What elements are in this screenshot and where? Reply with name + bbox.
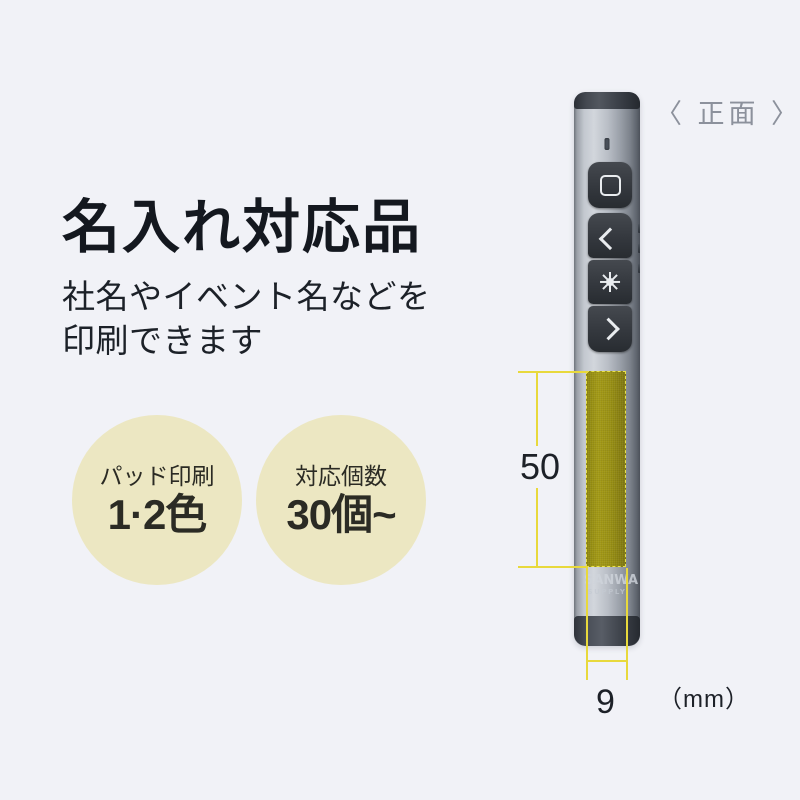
- rounded-square-icon: [600, 175, 621, 196]
- brand-subname: SUPPLY: [584, 587, 630, 598]
- badge-min-quantity-value: 30個~: [286, 494, 395, 536]
- side-nub-icon: [638, 244, 640, 253]
- chevron-left-icon: [599, 227, 622, 250]
- view-orientation-label: 〈 正面 〉: [655, 92, 800, 131]
- button-blank-screen: [588, 162, 632, 208]
- badge-print-method-caption: パッド印刷: [100, 465, 215, 488]
- device-bottom-cap: [574, 616, 640, 646]
- button-previous-slide: [588, 213, 632, 258]
- dimension-height-value: 50: [514, 446, 566, 488]
- dimension-width-value: 9: [596, 685, 615, 719]
- side-nub-icon: [638, 224, 640, 233]
- badge-print-method: パッド印刷 1·2色: [72, 415, 242, 585]
- device-body: SANWA SUPPLY: [574, 92, 640, 646]
- button-next-slide: [588, 306, 632, 352]
- sun-burst-icon: [600, 272, 620, 292]
- imprint-area-highlight: [586, 371, 626, 567]
- chevron-right-icon: [597, 318, 620, 341]
- dimension-height-tick-top: [529, 371, 545, 373]
- promo-copy-block: 名入れ対応品 社名やイベント名などを 印刷できます: [62, 196, 482, 363]
- brand-logo: SANWA SUPPLY: [584, 574, 630, 598]
- button-laser-pointer: [588, 260, 632, 304]
- dimension-width-tick-right: [626, 653, 628, 669]
- product-promo-canvas: 名入れ対応品 社名やイベント名などを 印刷できます パッド印刷 1·2色 対応個…: [0, 0, 800, 800]
- dimension-width-line: [586, 660, 628, 662]
- promo-subtitle-line-1: 社名やイベント名などを: [62, 275, 482, 319]
- side-nub-icon: [638, 264, 640, 273]
- led-indicator-icon: [605, 138, 610, 150]
- dimension-height-tick-bottom: [529, 566, 545, 568]
- badge-min-quantity: 対応個数 30個~: [256, 415, 426, 585]
- dimension-width-tick-left: [586, 653, 588, 669]
- badge-min-quantity-caption: 対応個数: [295, 465, 387, 488]
- promo-subtitle-line-2: 印刷できます: [62, 319, 482, 363]
- badge-group: パッド印刷 1·2色 対応個数 30個~: [72, 415, 426, 585]
- page-title: 名入れ対応品: [62, 196, 482, 261]
- brand-name: SANWA: [584, 574, 630, 587]
- badge-print-method-value: 1·2色: [108, 494, 207, 536]
- product-presenter-device: SANWA SUPPLY: [574, 92, 640, 646]
- device-top-cap: [574, 92, 640, 109]
- dimension-unit-label: （mm）: [658, 688, 750, 712]
- promo-subtitle: 社名やイベント名などを 印刷できます: [62, 275, 482, 363]
